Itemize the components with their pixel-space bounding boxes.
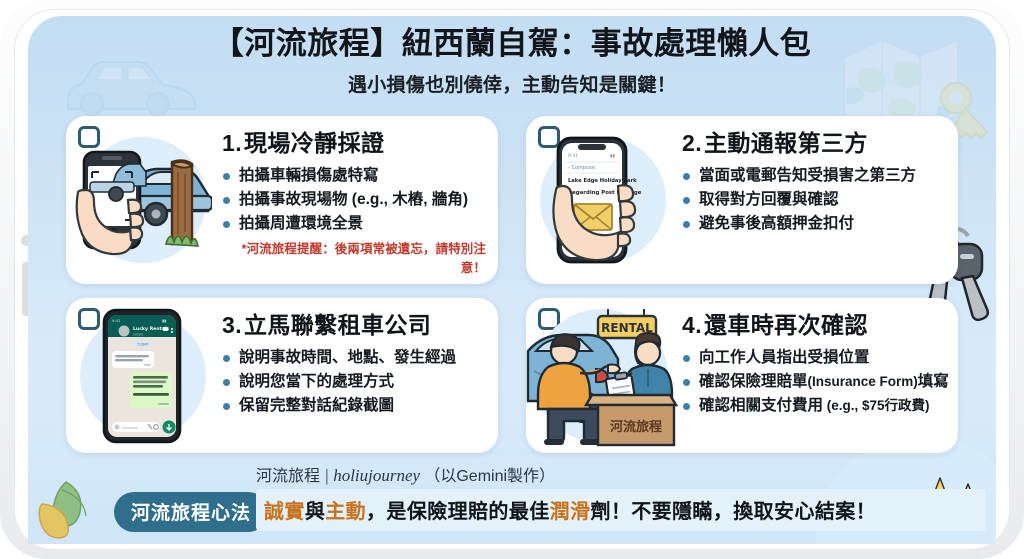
credit-handle: holiujourney xyxy=(333,466,420,485)
step-card-1[interactable]: 1.現場冷靜採證 拍攝車輛損傷處特寫 拍攝事故現場物 (e.g., 木樁, 牆角… xyxy=(66,116,498,284)
rental-counter-desk: 河流旅程 xyxy=(586,395,676,445)
motto-highlight: 主動 xyxy=(325,501,366,523)
motto-plain: 劑！不要隱瞞，換取安心結案！ xyxy=(590,501,876,523)
infographic-screen: 【河流旅程】紐西蘭自駕：事故處理懶人包 遇小損傷也別僥倖，主動告知是關鍵！ xyxy=(28,16,996,544)
bullet-item: 說明事故時間、地點、發生經過 xyxy=(222,346,486,370)
chat-bubble-incoming xyxy=(112,351,154,368)
steps-grid: 1.現場冷靜採證 拍攝車輛損傷處特寫 拍攝事故現場物 (e.g., 木樁, 牆角… xyxy=(66,116,958,453)
page-subtitle: 遇小損傷也別僥倖，主動告知是關鍵！ xyxy=(28,70,996,97)
step-number-1: 1. xyxy=(222,130,242,156)
bullet-item: 向工作人員指出受損位置 xyxy=(682,346,949,370)
step-bullets-2: 當面或電郵告知受損害之第三方 取得對方回覆與確認 避免事後高額押金扣付 xyxy=(682,164,946,236)
bullet-item: 拍攝周遭環境全景 xyxy=(222,212,486,236)
step-bullets-3: 說明事故時間、地點、發生經過 說明您當下的處理方式 保留完整對話紀錄截圖 xyxy=(222,346,486,418)
svg-text:9:41: 9:41 xyxy=(112,318,121,323)
step-card-4[interactable]: RENTAL xyxy=(526,298,958,453)
motto-highlight: 潤滑 xyxy=(550,501,591,523)
step-illustration-3: 9:41 ▮▮ Lucky Rentals online TODAY xyxy=(66,298,218,453)
chat-contact-status: online xyxy=(133,332,143,336)
step-title-3: 3.立馬聯繫租車公司 xyxy=(222,306,486,340)
motto-plain: ，是保險理賠的最佳 xyxy=(366,501,550,523)
step-card-2[interactable]: 9:41 ▮▮ ‹ Compose Lake Edge Holiday Park… xyxy=(526,116,958,284)
chat-input-placeholder: Message xyxy=(122,426,139,430)
bullet-item: 說明您當下的處理方式 xyxy=(222,370,486,394)
bullet-item: 確認保險理賠單(Insurance Form)填寫 xyxy=(682,370,949,394)
step-bullets-4: 向工作人員指出受損位置 確認保險理賠單(Insurance Form)填寫 確認… xyxy=(682,346,949,418)
page-title: 【河流旅程】紐西蘭自駕：事故處理懶人包 xyxy=(28,24,996,64)
motto-text: 誠實與主動，是保險理賠的最佳潤滑劑！不要隱瞞，換取安心結案！ xyxy=(264,495,980,524)
step-illustration-4: RENTAL xyxy=(526,298,678,453)
credit-tool: （以Gemini製作） xyxy=(424,468,555,485)
bullet-item: 拍攝車輛損傷處特寫 xyxy=(222,164,486,188)
email-recipient: Lake Edge Holiday Park xyxy=(568,178,637,184)
wooden-post-graphic xyxy=(172,160,192,244)
step-title-4: 4.還車時再次確認 xyxy=(682,306,949,340)
bullet-item: 確認相關支付費用 (e.g., $75行政費) xyxy=(682,394,949,418)
bullet-item: 保留完整對話紀錄截圖 xyxy=(222,394,486,418)
step-number-2: 2. xyxy=(682,130,702,156)
credit-separator: | xyxy=(324,466,329,485)
step-note-1: *河流旅程提醒：後兩項常被遺忘，請特別注意！ xyxy=(222,238,486,276)
step-number-3: 3. xyxy=(222,312,242,338)
desk-brand-label: 河流旅程 xyxy=(610,419,662,435)
svg-text:▮▮: ▮▮ xyxy=(162,318,166,323)
svg-text:‹ Compose: ‹ Compose xyxy=(568,165,595,171)
svg-text:▮▮: ▮▮ xyxy=(610,154,615,159)
motto-highlight: 誠實 xyxy=(264,501,305,523)
step-title-2: 2.主動通報第三方 xyxy=(682,124,946,158)
step-illustration-2: 9:41 ▮▮ ‹ Compose Lake Edge Holiday Park… xyxy=(526,116,678,284)
motto-badge: 河流旅程心法 xyxy=(114,492,268,532)
step-bullets-1: 拍攝車輛損傷處特寫 拍攝事故現場物 (e.g., 木樁, 牆角) 拍攝周遭環境全… xyxy=(222,164,486,236)
bullet-item: 當面或電郵告知受損害之第三方 xyxy=(682,164,946,188)
step-body-2: 2.主動通報第三方 當面或電郵告知受損害之第三方 取得對方回覆與確認 避免事後高… xyxy=(678,116,958,284)
step-card-3[interactable]: 9:41 ▮▮ Lucky Rentals online TODAY xyxy=(66,298,498,453)
bullet-item: 避免事後高額押金扣付 xyxy=(682,212,946,236)
step-body-4: 4.還車時再次確認 向工作人員指出受損位置 確認保險理賠單(Insurance … xyxy=(678,298,958,453)
step-illustration-1 xyxy=(66,116,218,284)
step-number-4: 4. xyxy=(682,312,702,338)
step-body-1: 1.現場冷靜採證 拍攝車輛損傷處特寫 拍攝事故現場物 (e.g., 木樁, 牆角… xyxy=(218,116,498,284)
bullet-item: 取得對方回覆與確認 xyxy=(682,188,946,212)
header: 【河流旅程】紐西蘭自駕：事故處理懶人包 遇小損傷也別僥倖，主動告知是關鍵！ xyxy=(28,24,996,97)
chat-day-divider: TODAY xyxy=(136,342,149,346)
phone-graphic: 9:41 ▮▮ Lucky Rentals online TODAY xyxy=(104,310,180,442)
step-body-3: 3.立馬聯繫租車公司 說明事故時間、地點、發生經過 說明您當下的處理方式 保留完… xyxy=(218,298,498,453)
bullet-item: 拍攝事故現場物 (e.g., 木樁, 牆角) xyxy=(222,188,486,212)
credit-line: 河流旅程 | holiujourney （以Gemini製作） xyxy=(256,462,555,486)
svg-text:9:41: 9:41 xyxy=(568,153,578,159)
motto-bar: 誠實與主動，是保險理賠的最佳潤滑劑！不要隱瞞，換取安心結案！ xyxy=(256,489,986,531)
step-title-1: 1.現場冷靜採證 xyxy=(222,124,486,158)
credit-brand: 河流旅程 xyxy=(256,468,320,485)
device-frame: 【河流旅程】紐西蘭自駕：事故處理懶人包 遇小損傷也別僥倖，主動告知是關鍵！ xyxy=(0,0,1024,559)
motto-plain: 與 xyxy=(305,501,325,523)
chat-bubble-outgoing xyxy=(130,372,172,408)
footer: 河流旅程 | holiujourney （以Gemini製作） 河流旅程心法 誠… xyxy=(28,456,996,544)
